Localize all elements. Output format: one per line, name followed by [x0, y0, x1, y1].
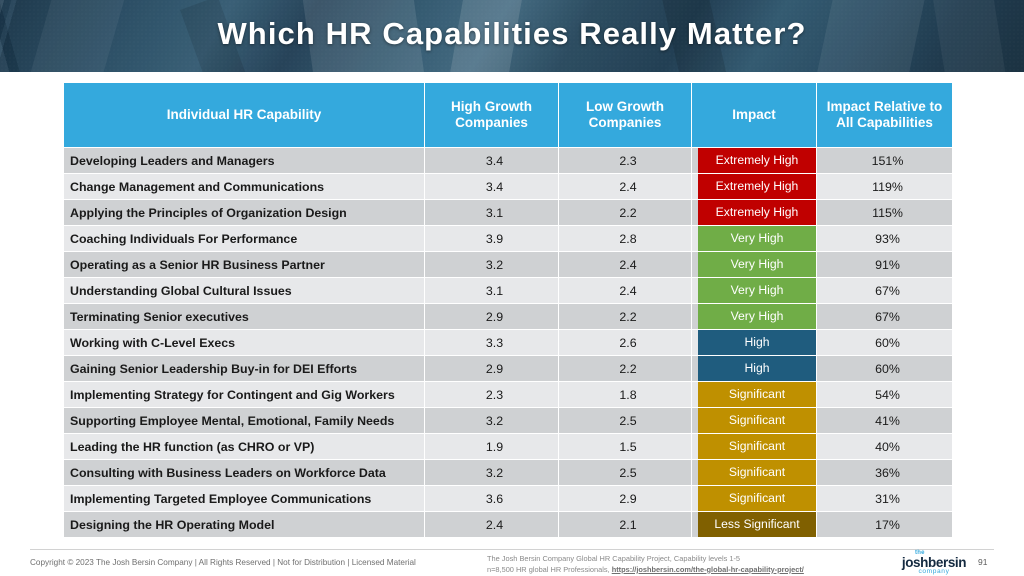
cell-impact-relative: 67% [817, 304, 952, 329]
cell-low-growth: 2.1 [559, 512, 691, 537]
cell-high-growth: 3.4 [425, 174, 558, 199]
cell-low-growth: 1.8 [559, 382, 691, 407]
cell-low-growth: 2.4 [559, 174, 691, 199]
cell-low-growth: 2.8 [559, 226, 691, 251]
table-row: Implementing Targeted Employee Communica… [64, 486, 952, 511]
cell-high-growth: 2.3 [425, 382, 558, 407]
table-row: Supporting Employee Mental, Emotional, F… [64, 408, 952, 433]
capability-table: Individual HR Capability High Growth Com… [63, 82, 953, 538]
cell-low-growth: 2.9 [559, 486, 691, 511]
table-row: Working with C-Level Execs3.32.6High60% [64, 330, 952, 355]
table-row: Applying the Principles of Organization … [64, 200, 952, 225]
impact-badge: Significant [698, 460, 816, 485]
copyright-text: Copyright © 2023 The Josh Bersin Company… [30, 558, 416, 567]
cell-low-growth: 2.4 [559, 278, 691, 303]
cell-impact-relative: 91% [817, 252, 952, 277]
table-row: Terminating Senior executives2.92.2Very … [64, 304, 952, 329]
cell-impact-relative: 119% [817, 174, 952, 199]
cell-capability: Coaching Individuals For Performance [64, 226, 424, 251]
cell-capability: Gaining Senior Leadership Buy-in for DEI… [64, 356, 424, 381]
cell-low-growth: 2.2 [559, 200, 691, 225]
cell-capability: Leading the HR function (as CHRO or VP) [64, 434, 424, 459]
impact-badge: Very High [698, 252, 816, 277]
impact-badge: Extremely High [698, 200, 816, 225]
cell-impact-relative: 151% [817, 148, 952, 173]
cell-high-growth: 3.4 [425, 148, 558, 173]
table-row: Coaching Individuals For Performance3.92… [64, 226, 952, 251]
impact-badge: Significant [698, 486, 816, 511]
cell-impact: Very High [692, 252, 816, 277]
cell-low-growth: 2.5 [559, 408, 691, 433]
cell-high-growth: 3.2 [425, 408, 558, 433]
cell-impact: Extremely High [692, 174, 816, 199]
cell-high-growth: 2.9 [425, 356, 558, 381]
cell-capability: Operating as a Senior HR Business Partne… [64, 252, 424, 277]
impact-badge: Extremely High [698, 148, 816, 173]
column-header-low-growth: Low Growth Companies [559, 83, 691, 147]
cell-impact-relative: 40% [817, 434, 952, 459]
cell-low-growth: 2.2 [559, 356, 691, 381]
cell-impact-relative: 36% [817, 460, 952, 485]
cell-capability: Change Management and Communications [64, 174, 424, 199]
impact-badge: High [698, 356, 816, 381]
page-number: 91 [978, 557, 987, 567]
impact-badge: Significant [698, 434, 816, 459]
table-row: Leading the HR function (as CHRO or VP)1… [64, 434, 952, 459]
cell-capability: Implementing Targeted Employee Communica… [64, 486, 424, 511]
slide-title: Which HR Capabilities Really Matter? [0, 16, 1024, 52]
source-line-1: The Josh Bersin Company Global HR Capabi… [487, 554, 804, 565]
josh-bersin-logo: the joshbersin company [898, 550, 970, 574]
source-citation: The Josh Bersin Company Global HR Capabi… [487, 554, 804, 575]
cell-impact: Significant [692, 486, 816, 511]
table-row: Developing Leaders and Managers3.42.3Ext… [64, 148, 952, 173]
cell-low-growth: 2.6 [559, 330, 691, 355]
cell-impact-relative: 41% [817, 408, 952, 433]
slide-header-banner: Which HR Capabilities Really Matter? [0, 0, 1024, 72]
impact-badge: High [698, 330, 816, 355]
cell-impact: Less Significant [692, 512, 816, 537]
table-row: Change Management and Communications3.42… [64, 174, 952, 199]
source-link[interactable]: https://joshbersin.com/the-global-hr-cap… [612, 565, 804, 574]
cell-high-growth: 3.9 [425, 226, 558, 251]
cell-capability: Implementing Strategy for Contingent and… [64, 382, 424, 407]
impact-badge: Very High [698, 278, 816, 303]
cell-high-growth: 1.9 [425, 434, 558, 459]
column-header-capability: Individual HR Capability [64, 83, 424, 147]
cell-high-growth: 3.2 [425, 460, 558, 485]
cell-capability: Terminating Senior executives [64, 304, 424, 329]
cell-impact: Significant [692, 408, 816, 433]
table-row: Understanding Global Cultural Issues3.12… [64, 278, 952, 303]
cell-low-growth: 2.5 [559, 460, 691, 485]
cell-low-growth: 2.3 [559, 148, 691, 173]
column-header-impact-relative: Impact Relative to All Capabilities [817, 83, 952, 147]
cell-high-growth: 3.1 [425, 278, 558, 303]
cell-impact-relative: 17% [817, 512, 952, 537]
cell-capability: Designing the HR Operating Model [64, 512, 424, 537]
cell-impact: Very High [692, 304, 816, 329]
cell-capability: Working with C-Level Execs [64, 330, 424, 355]
impact-badge: Extremely High [698, 174, 816, 199]
source-line-2: n=8,500 HR global HR Professionals, http… [487, 565, 804, 576]
impact-badge: Very High [698, 226, 816, 251]
table-row: Implementing Strategy for Contingent and… [64, 382, 952, 407]
impact-badge: Less Significant [698, 512, 816, 537]
cell-capability: Applying the Principles of Organization … [64, 200, 424, 225]
cell-impact-relative: 60% [817, 330, 952, 355]
cell-impact: Very High [692, 278, 816, 303]
cell-impact-relative: 54% [817, 382, 952, 407]
cell-impact: Extremely High [692, 200, 816, 225]
cell-impact: Significant [692, 382, 816, 407]
cell-high-growth: 3.3 [425, 330, 558, 355]
table-row: Designing the HR Operating Model2.42.1Le… [64, 512, 952, 537]
table-row: Consulting with Business Leaders on Work… [64, 460, 952, 485]
cell-impact-relative: 115% [817, 200, 952, 225]
cell-low-growth: 2.4 [559, 252, 691, 277]
cell-high-growth: 3.6 [425, 486, 558, 511]
cell-high-growth: 2.4 [425, 512, 558, 537]
table-row: Operating as a Senior HR Business Partne… [64, 252, 952, 277]
cell-impact: Significant [692, 460, 816, 485]
impact-badge: Significant [698, 382, 816, 407]
table-row: Gaining Senior Leadership Buy-in for DEI… [64, 356, 952, 381]
cell-capability: Understanding Global Cultural Issues [64, 278, 424, 303]
impact-badge: Very High [698, 304, 816, 329]
cell-impact: Extremely High [692, 148, 816, 173]
cell-high-growth: 2.9 [425, 304, 558, 329]
cell-impact: High [692, 356, 816, 381]
cell-low-growth: 1.5 [559, 434, 691, 459]
cell-impact-relative: 60% [817, 356, 952, 381]
footer-divider [30, 549, 994, 550]
cell-capability: Developing Leaders and Managers [64, 148, 424, 173]
cell-impact-relative: 67% [817, 278, 952, 303]
capability-table-wrapper: Individual HR Capability High Growth Com… [63, 82, 947, 538]
cell-capability: Consulting with Business Leaders on Work… [64, 460, 424, 485]
impact-badge: Significant [698, 408, 816, 433]
table-header-row: Individual HR Capability High Growth Com… [64, 83, 952, 147]
cell-high-growth: 3.2 [425, 252, 558, 277]
cell-impact: Very High [692, 226, 816, 251]
cell-high-growth: 3.1 [425, 200, 558, 225]
cell-low-growth: 2.2 [559, 304, 691, 329]
cell-impact-relative: 31% [817, 486, 952, 511]
table-header: Individual HR Capability High Growth Com… [64, 83, 952, 147]
column-header-high-growth: High Growth Companies [425, 83, 558, 147]
logo-company-text: company [898, 568, 970, 575]
cell-capability: Supporting Employee Mental, Emotional, F… [64, 408, 424, 433]
column-header-impact: Impact [692, 83, 816, 147]
cell-impact-relative: 93% [817, 226, 952, 251]
cell-impact: Significant [692, 434, 816, 459]
table-body: Developing Leaders and Managers3.42.3Ext… [64, 148, 952, 537]
source-sample-size: n=8,500 HR global HR Professionals, [487, 565, 612, 574]
cell-impact: High [692, 330, 816, 355]
